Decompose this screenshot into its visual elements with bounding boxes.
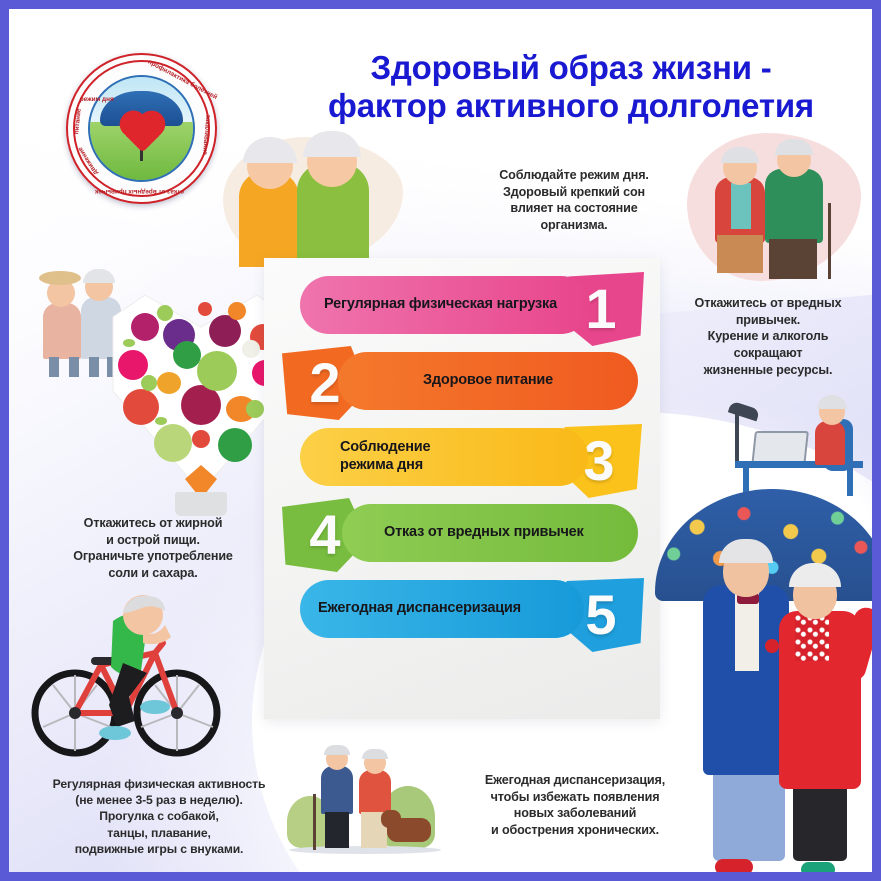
couple-woman-top [731,183,751,229]
couple-man-trousers [769,239,817,279]
list-item[interactable]: 5 Ежегодная диспансеризация [264,580,660,656]
emblem-text-2: закаливание [201,114,211,155]
caption-habits: Откажитесь от вредных привычек. Курение … [654,295,881,379]
list-label-1: Регулярная физическая нагрузка [318,296,557,314]
emblem-text-1: профилактика болезней [146,58,218,100]
desk-lamp-head-icon [728,401,760,422]
dog-scene-man-body [321,766,353,814]
desk-person-hair [817,395,847,409]
emblem-ring-text: режим дня профилактика болезней закалива… [66,53,217,204]
emblem-text-4: движение [76,145,99,175]
caption-food: Откажитесь от жирной и острой пищи. Огра… [37,515,269,582]
senior-cyclist-illustration [31,587,221,767]
dog-scene-woman-body [359,770,391,814]
list-label-2: Здоровое питание [423,372,553,390]
desk-lamp-arm [735,413,739,463]
couple-walking-dog-illustration [281,736,449,862]
elderly-pair-leg-a [49,357,59,377]
elderly-pair-leg-c [89,357,99,377]
elderly-pair-leg-b [69,357,79,377]
hugging-couple-illustration [223,137,403,267]
dog-head [381,810,401,828]
list-label-3: Соблюдение режима дня [318,439,430,474]
umbrella-woman-trousers [793,781,847,861]
poster-title: Здоровый образ жизни - фактор активного … [271,49,871,126]
list-item[interactable]: 3 Соблюдение режима дня [264,428,660,504]
walking-cane-icon [828,203,831,279]
umbrella-man-trousers [713,765,785,861]
emblem-text-0: режим дня [80,96,114,103]
list-label-5: Ежегодная диспансеризация [318,600,521,618]
couple-woman-skirt [717,235,763,273]
poster-title-line2: фактор активного долголетия [271,87,871,125]
hugging-couple-man-hair [303,131,361,157]
list-bar-5: Ежегодная диспансеризация [300,580,584,638]
walking-cane-icon [313,794,316,850]
rose-icon [765,639,779,653]
couple-with-cane-illustration [685,131,863,283]
cyclist-svg [31,587,221,767]
elderly-pair-person-a-body [43,303,81,359]
numbered-list-panel: 1 Регулярная физическая нагрузка 2 Здоро… [264,258,660,719]
umbrella-man-shirt [735,593,759,671]
heart-vase [175,492,227,516]
caption-activity: Регулярная физическая активность (не мен… [31,776,287,857]
list-item[interactable]: 1 Регулярная физическая нагрузка [264,276,660,352]
caption-sleep: Соблюдайте режим дня. Здоровый крепкий с… [464,167,684,234]
caption-checkup: Ежегодная диспансеризация, чтобы избежат… [447,772,703,839]
desk-person-body [815,421,845,465]
list-bar-2: Здоровое питание [338,352,638,410]
list-item[interactable]: 2 Здоровое питание [264,352,660,428]
list-bar-3: Соблюдение режима дня [300,428,588,486]
dog-scene-woman-hair [362,749,388,759]
list-label-4: Отказ от вредных привычек [362,524,584,542]
list-bar-1: Регулярная физическая нагрузка [300,276,590,334]
organization-emblem: режим дня профилактика болезней закалива… [66,53,217,204]
dog-scene-man-legs [325,812,349,848]
umbrella-man-shoes [715,859,753,875]
sun-hat-icon [39,271,81,285]
list-item[interactable]: 4 Отказ от вредных привычек [264,504,660,580]
senior-at-laptop-illustration [727,369,877,499]
elderly-pair-person-b-hair [83,269,115,283]
umbrella-woman-scarf [795,615,829,661]
dog-scene-man-hair [324,745,350,755]
umbrella-woman-shoes [801,862,835,877]
poster-root: режим дня профилактика болезней закалива… [0,0,881,881]
list-bar-4: Отказ от вредных привычек [342,504,638,562]
emblem-text-3: отказ от вредных привычек [95,188,184,195]
emblem-text-5: питание [73,108,83,134]
couple-man-vest [765,169,823,243]
poster-title-line1: Здоровый образ жизни - [370,49,771,86]
